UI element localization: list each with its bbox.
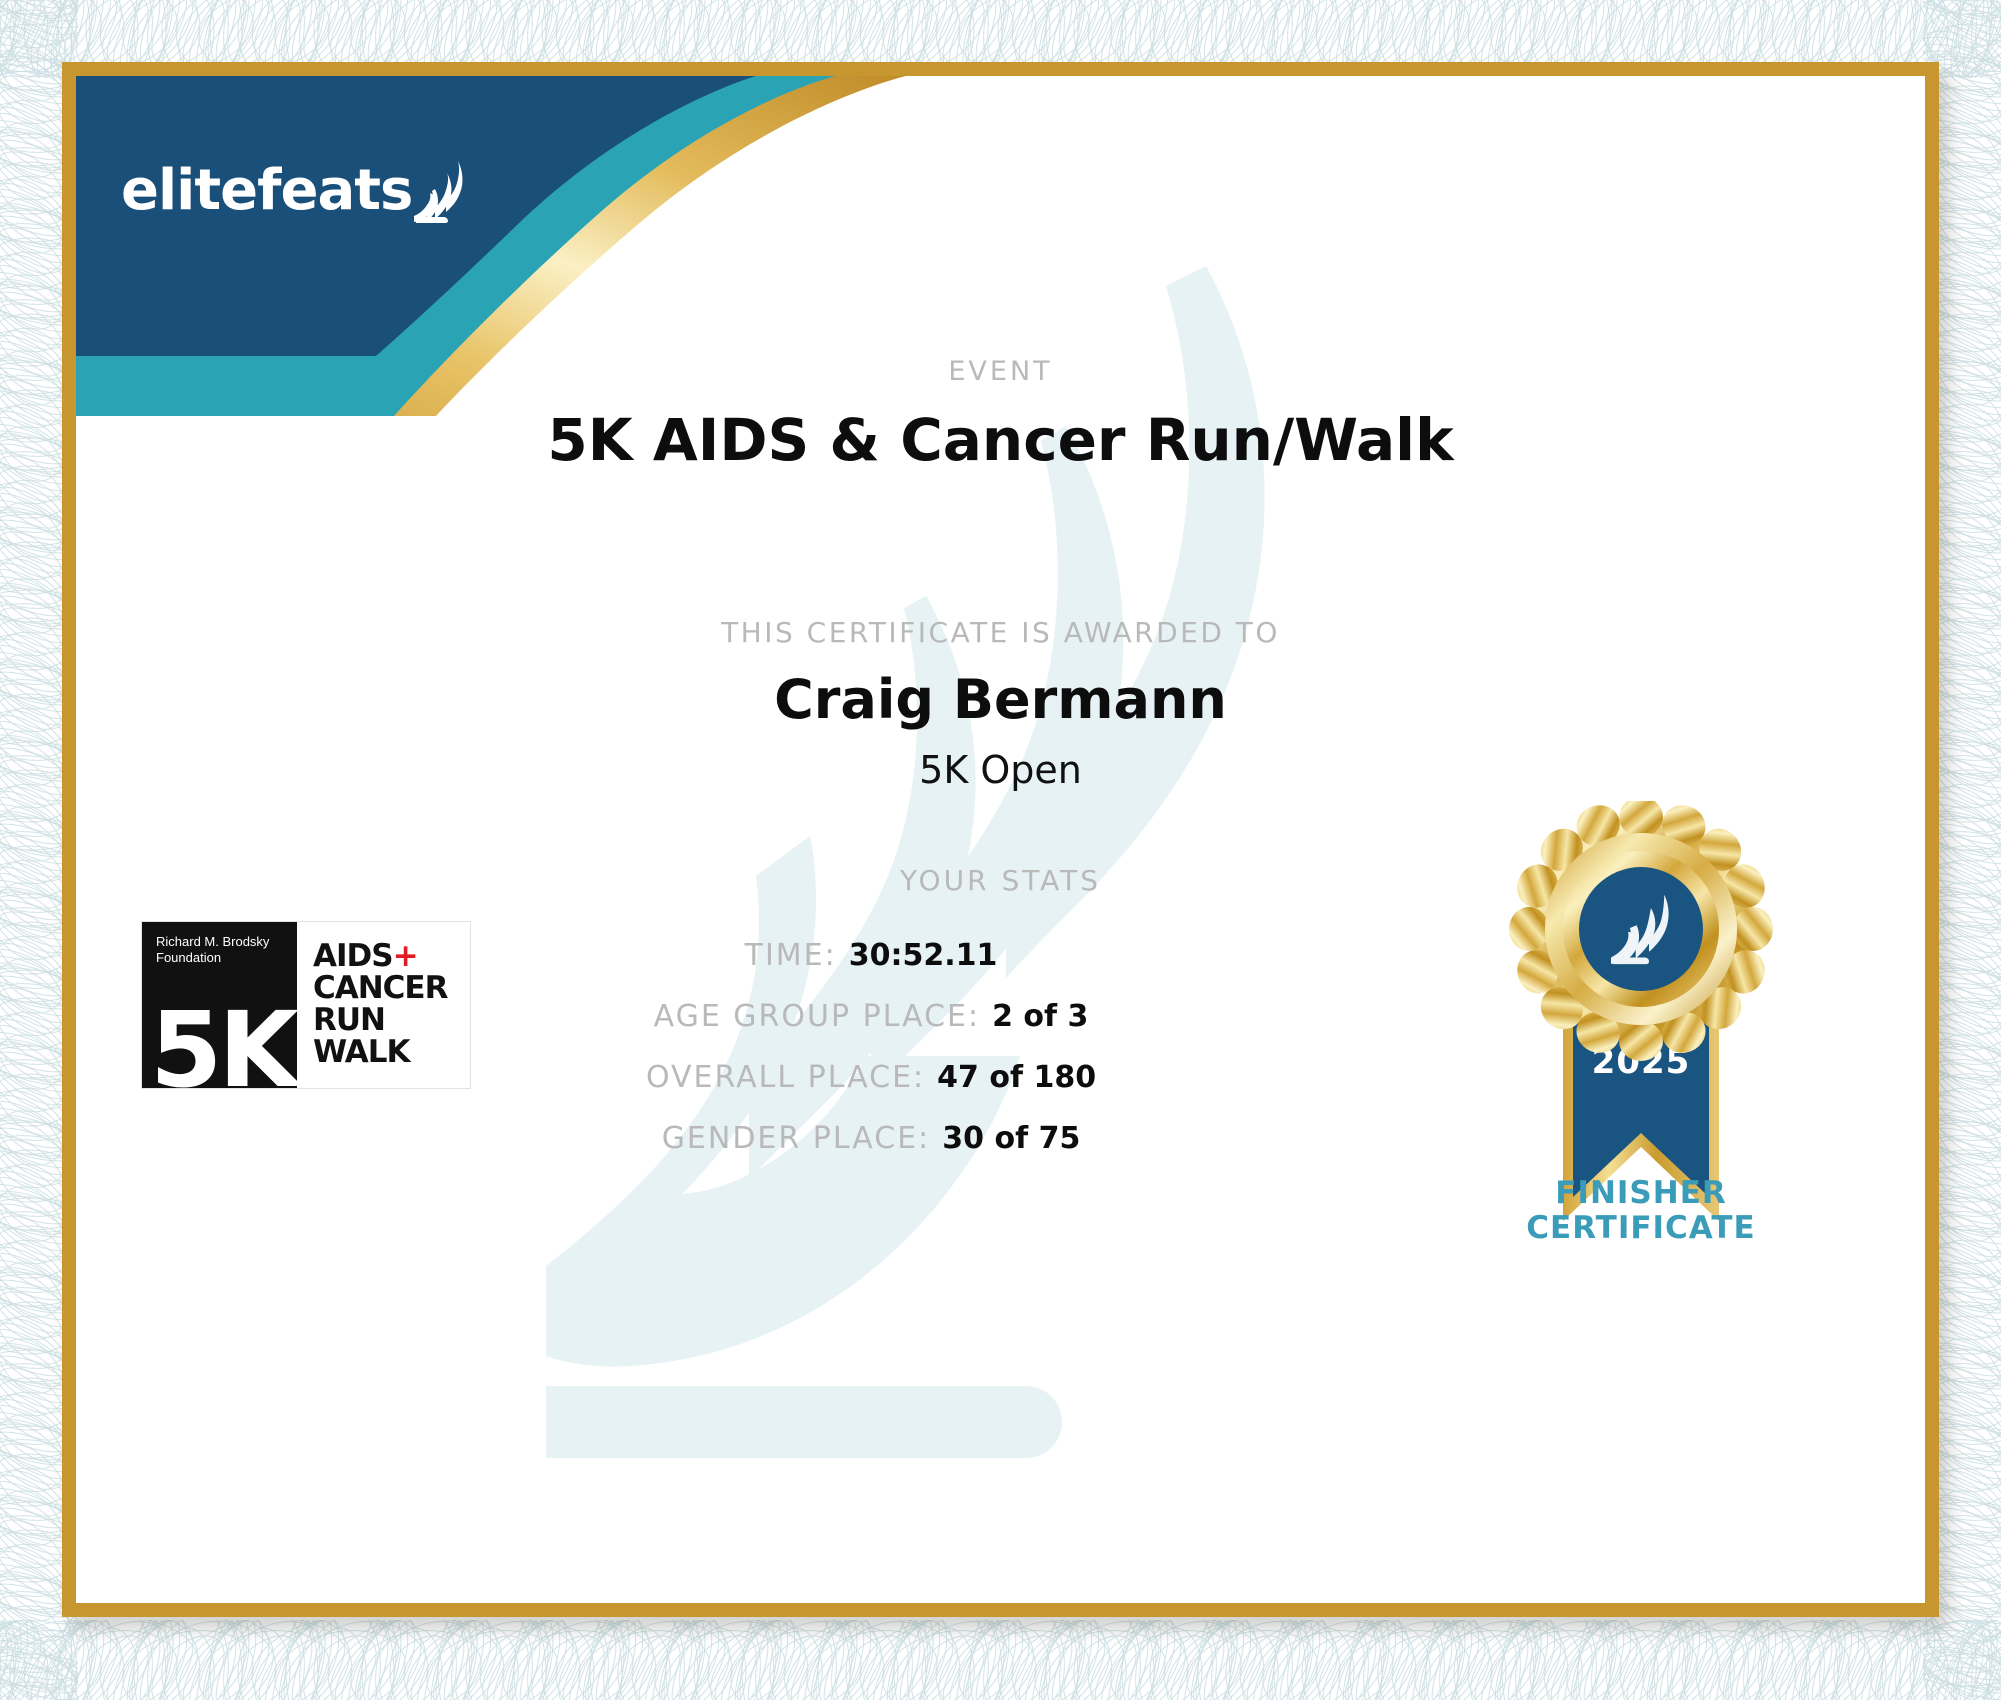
foundation-line-2: Foundation	[156, 950, 297, 966]
race-logo-line-3: RUN WALK	[313, 1005, 470, 1069]
stat-label: AGE GROUP PLACE:	[654, 999, 981, 1034]
stat-row-time: TIME: 30:52.11	[406, 938, 1336, 973]
event-label: EVENT	[76, 356, 1925, 387]
red-plus-icon: +	[393, 938, 418, 974]
race-sponsor-logo: Richard M. Brodsky Foundation 5K AIDS+ C…	[141, 921, 471, 1089]
stat-row-gender-place: GENDER PLACE: 30 of 75	[406, 1121, 1336, 1156]
race-logo-line-2: CANCER	[313, 973, 470, 1005]
race-logo-light-panel: AIDS+ CANCER RUN WALK	[297, 922, 470, 1088]
medal-caption-line-2: CERTIFICATE	[1461, 1211, 1821, 1246]
medal-caption-line-1: FINISHER	[1461, 1176, 1821, 1211]
race-distance: 5K	[150, 998, 295, 1102]
stat-value: 47 of 180	[937, 1060, 1096, 1095]
certificate-content: EVENT 5K AIDS & Cancer Run/Walk THIS CER…	[76, 76, 1925, 1603]
foundation-line-1: Richard M. Brodsky	[156, 934, 297, 950]
stat-value: 2 of 3	[992, 999, 1088, 1034]
stat-value: 30:52.11	[849, 938, 998, 973]
awarded-to-label: THIS CERTIFICATE IS AWARDED TO	[76, 616, 1925, 649]
foundation-name: Richard M. Brodsky Foundation	[156, 934, 297, 965]
stat-label: GENDER PLACE:	[662, 1121, 931, 1156]
certificate-body: elitefeats EVENT 5K AIDS & Cancer Run/Wa…	[76, 76, 1925, 1603]
stats-list: TIME: 30:52.11 AGE GROUP PLACE: 2 of 3 O…	[406, 938, 1336, 1182]
certificate-frame: elitefeats EVENT 5K AIDS & Cancer Run/Wa…	[62, 62, 1939, 1617]
race-logo-line-1: AIDS+	[313, 941, 470, 973]
event-name: 5K AIDS & Cancer Run/Walk	[76, 406, 1925, 474]
stat-value: 30 of 75	[942, 1121, 1080, 1156]
stat-row-overall-place: OVERALL PLACE: 47 of 180	[406, 1060, 1336, 1095]
stat-row-age-group-place: AGE GROUP PLACE: 2 of 3	[406, 999, 1336, 1034]
medal-caption: FINISHER CERTIFICATE	[1461, 1176, 1821, 1245]
stat-label: TIME:	[745, 938, 837, 973]
recipient-name: Craig Bermann	[76, 668, 1925, 731]
race-logo-dark-panel: Richard M. Brodsky Foundation 5K	[142, 922, 297, 1088]
recipient-division: 5K Open	[76, 748, 1925, 792]
stat-label: OVERALL PLACE:	[646, 1060, 925, 1095]
